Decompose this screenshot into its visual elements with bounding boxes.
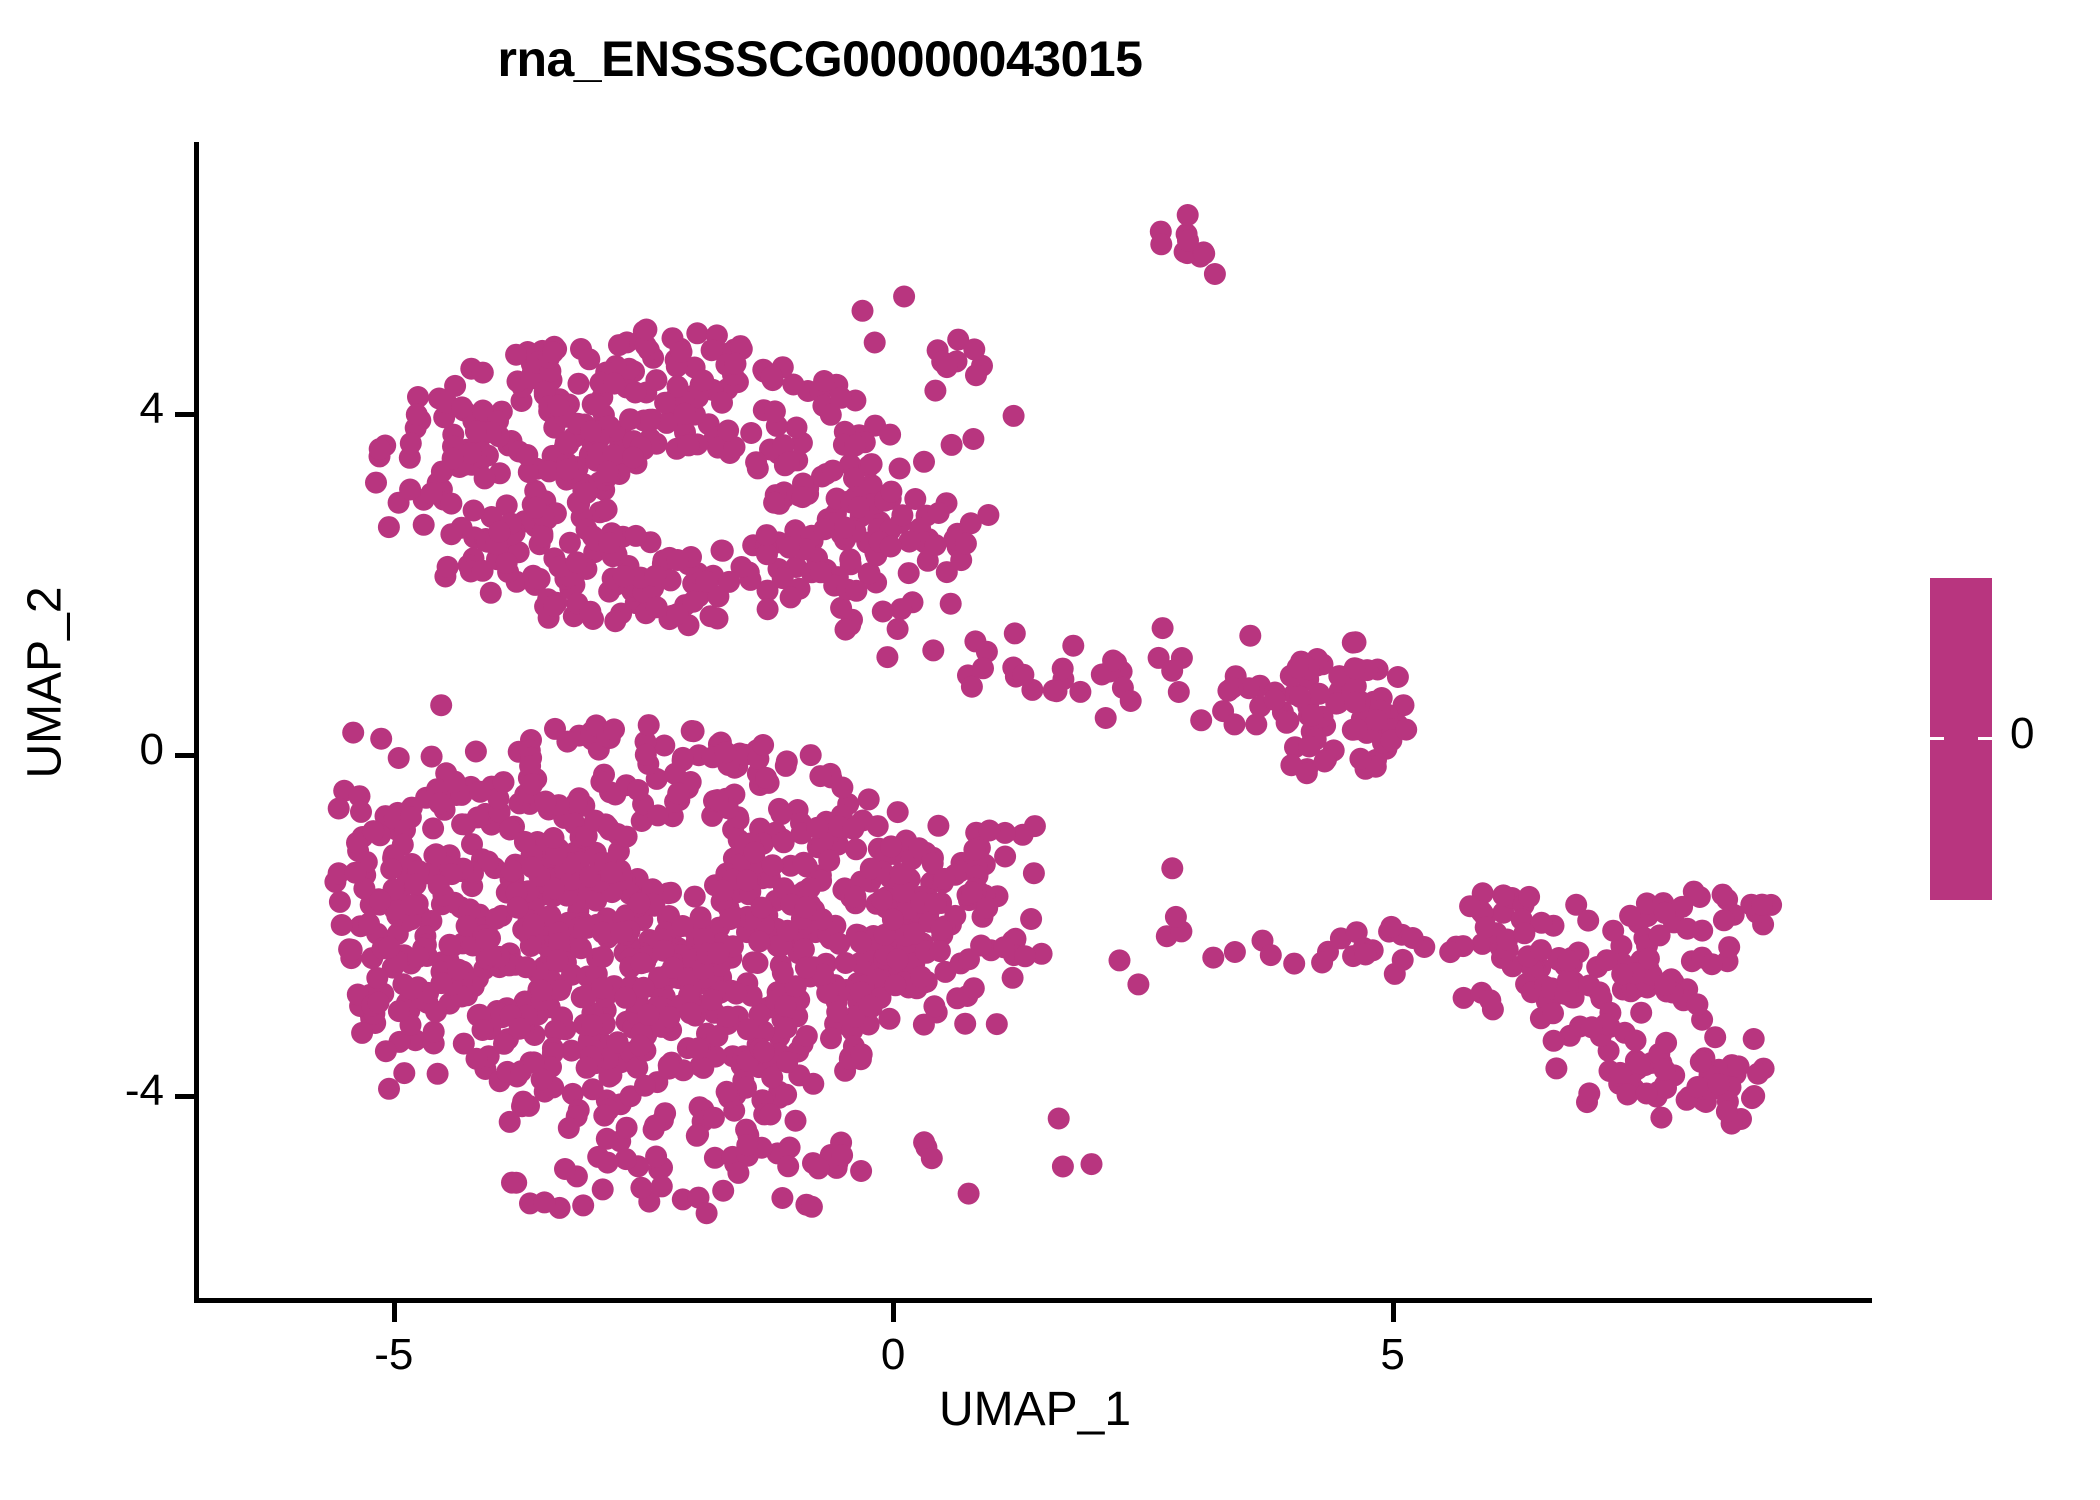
scatter-point [796, 1025, 818, 1047]
scatter-point [363, 1003, 385, 1025]
scatter-point [707, 608, 729, 630]
scatter-point [584, 810, 606, 832]
scatter-point [567, 900, 589, 922]
scatter-point [1627, 1058, 1649, 1080]
scatter-point [808, 1157, 830, 1179]
scatter-point [1202, 947, 1224, 969]
scatter-point [595, 362, 617, 384]
scatter-point [1002, 657, 1024, 679]
scatter-point [1721, 1113, 1743, 1135]
scatter-point [1699, 1065, 1721, 1087]
scatter-point [535, 968, 557, 990]
scatter-point [1369, 700, 1391, 722]
scatter-point [724, 906, 746, 928]
scatter-point [874, 959, 896, 981]
scatter-point [616, 1117, 638, 1139]
scatter-point [717, 797, 739, 819]
scatter-point [1349, 690, 1371, 712]
scatter-point [369, 445, 391, 467]
scatter-point [1249, 695, 1271, 717]
scatter-point [567, 933, 589, 955]
scatter-point [558, 1117, 580, 1139]
scatter-point [651, 1157, 673, 1179]
scatter-point [550, 976, 572, 998]
scatter-point [609, 432, 631, 454]
scatter-point [818, 850, 840, 872]
scatter-point [682, 591, 704, 613]
scatter-point [522, 361, 544, 383]
scatter-point [777, 920, 799, 942]
scatter-point [703, 790, 725, 812]
scatter-point [369, 438, 391, 460]
scatter-point [1624, 962, 1646, 984]
scatter-point [700, 605, 722, 627]
scatter-point [531, 1068, 553, 1090]
scatter-point [660, 569, 682, 591]
scatter-point [717, 420, 739, 442]
scatter-point [789, 578, 811, 600]
scatter-point [879, 519, 901, 541]
scatter-point [738, 881, 760, 903]
scatter-point [610, 1093, 632, 1115]
scatter-point [1297, 696, 1319, 718]
scatter-point [493, 1033, 515, 1055]
scatter-point [554, 1158, 576, 1180]
scatter-point [623, 430, 645, 452]
scatter-point [902, 910, 924, 932]
scatter-point [690, 932, 712, 954]
scatter-point [386, 905, 408, 927]
scatter-point [887, 618, 909, 640]
scatter-point [511, 376, 533, 398]
scatter-point [525, 483, 547, 505]
scatter-point [820, 1027, 842, 1049]
scatter-point [434, 799, 456, 821]
scatter-point [588, 739, 610, 761]
scatter-point [597, 816, 619, 838]
scatter-point [703, 1002, 725, 1024]
scatter-point [715, 354, 737, 376]
scatter-point [520, 1051, 542, 1073]
scatter-point [820, 404, 842, 426]
scatter-point [598, 415, 620, 437]
scatter-point [425, 843, 447, 865]
scatter-point [879, 424, 901, 446]
scatter-point [1608, 1065, 1630, 1087]
scatter-point [834, 421, 856, 443]
scatter-point [780, 991, 802, 1013]
scatter-point [1650, 1052, 1672, 1074]
scatter-point [839, 454, 861, 476]
scatter-point [389, 886, 411, 908]
scatter-point [1531, 912, 1553, 934]
scatter-point [722, 1146, 744, 1168]
scatter-point [1673, 989, 1695, 1011]
scatter-point [554, 403, 576, 425]
scatter-point [462, 935, 484, 957]
scatter-point [1346, 718, 1368, 740]
scatter-point [590, 372, 612, 394]
scatter-point [701, 989, 723, 1011]
scatter-point [1371, 687, 1393, 709]
scatter-point [882, 888, 904, 910]
scatter-point [684, 886, 706, 908]
scatter-point [480, 944, 502, 966]
scatter-point [531, 523, 553, 545]
scatter-point [826, 1153, 848, 1175]
scatter-point [737, 1050, 759, 1072]
scatter-point [944, 864, 966, 886]
scatter-point [489, 801, 511, 823]
scatter-point [451, 813, 473, 835]
scatter-point [1501, 887, 1523, 909]
scatter-point [1590, 988, 1612, 1010]
scatter-point [630, 436, 652, 458]
scatter-point [609, 1130, 631, 1152]
scatter-point [742, 919, 764, 941]
scatter-point [752, 734, 774, 756]
scatter-point [768, 558, 790, 580]
scatter-point [690, 1055, 712, 1077]
scatter-point [974, 854, 996, 876]
scatter-point [666, 949, 688, 971]
scatter-point [871, 861, 893, 883]
scatter-point [762, 854, 784, 876]
scatter-point [734, 744, 756, 766]
scatter-point [1004, 929, 1026, 951]
scatter-point [803, 956, 825, 978]
scatter-point [1315, 749, 1337, 771]
scatter-point [720, 903, 742, 925]
scatter-point [1720, 1076, 1742, 1098]
scatter-point [461, 833, 483, 855]
scatter-point [595, 852, 617, 874]
scatter-point [350, 801, 372, 823]
scatter-point [662, 605, 684, 627]
scatter-point [573, 473, 595, 495]
scatter-point [526, 458, 548, 480]
scatter-point [576, 1057, 598, 1079]
scatter-point [1539, 988, 1561, 1010]
scatter-point [1342, 632, 1364, 654]
scatter-point [1375, 738, 1397, 760]
scatter-point [791, 822, 813, 844]
scatter-point [554, 568, 576, 590]
scatter-point [582, 608, 604, 630]
scatter-point [799, 894, 821, 916]
scatter-point [536, 935, 558, 957]
scatter-point [610, 868, 632, 890]
scatter-point [642, 347, 664, 369]
scatter-point [766, 931, 788, 953]
scatter-point [897, 935, 919, 957]
scatter-point [392, 834, 414, 856]
scatter-point [1743, 1085, 1765, 1107]
scatter-point [820, 928, 842, 950]
scatter-point [382, 847, 404, 869]
scatter-point [750, 1038, 772, 1060]
scatter-point [577, 917, 599, 939]
scatter-point [1168, 681, 1190, 703]
scatter-point [520, 729, 542, 751]
scatter-point [429, 792, 451, 814]
scatter-point [610, 1051, 632, 1073]
scatter-point [468, 1004, 490, 1026]
scatter-point [559, 578, 581, 600]
scatter-point [651, 927, 673, 949]
scatter-point [840, 553, 862, 575]
scatter-point [717, 754, 739, 776]
scatter-point [500, 1005, 522, 1027]
scatter-point [395, 910, 417, 932]
scatter-point [529, 533, 551, 555]
scatter-point [1660, 968, 1682, 990]
scatter-point [835, 619, 857, 641]
scatter-point [824, 1013, 846, 1035]
scatter-point [399, 479, 421, 501]
scatter-point [565, 792, 587, 814]
scatter-point [614, 871, 636, 893]
scatter-point [969, 837, 991, 859]
scatter-point [964, 881, 986, 903]
scatter-point [524, 480, 546, 502]
scatter-point [543, 827, 565, 849]
scatter-point [605, 574, 627, 596]
scatter-point [1380, 916, 1402, 938]
scatter-point [837, 1014, 859, 1036]
scatter-point [667, 937, 689, 959]
scatter-point [457, 930, 479, 952]
scatter-point [341, 939, 363, 961]
scatter-point [1004, 622, 1026, 644]
scatter-point [501, 523, 523, 545]
scatter-point [543, 547, 565, 569]
scatter-point [867, 815, 889, 837]
scatter-point [875, 944, 897, 966]
scatter-point [917, 550, 939, 572]
scatter-point [707, 940, 729, 962]
scatter-point [630, 1177, 652, 1199]
scatter-point [861, 474, 883, 496]
scatter-point [1636, 977, 1658, 999]
y-axis-tick-label: -4 [0, 1066, 164, 1116]
scatter-point [369, 824, 391, 846]
scatter-point [827, 566, 849, 588]
scatter-point [833, 434, 855, 456]
scatter-point [894, 916, 916, 938]
scatter-point [1513, 894, 1535, 916]
scatter-point [686, 999, 708, 1021]
legend-colorbar[interactable]: 0 [1930, 578, 1992, 900]
scatter-point [753, 1021, 775, 1043]
scatter-point [901, 848, 923, 870]
scatter-point [971, 355, 993, 377]
scatter-point [1345, 631, 1367, 653]
scatter-point [1529, 957, 1551, 979]
scatter-point [646, 433, 668, 455]
scatter-point [1393, 694, 1415, 716]
scatter-point [844, 1006, 866, 1028]
scatter-point [462, 862, 484, 884]
scatter-point [768, 493, 790, 515]
scatter-point [903, 932, 925, 954]
scatter-point [1308, 683, 1330, 705]
scatter-point [515, 1005, 537, 1027]
scatter-point [487, 787, 509, 809]
scatter-point [652, 1109, 674, 1131]
scatter-point [916, 505, 938, 527]
scatter-point [513, 510, 535, 532]
scatter-point [544, 1020, 566, 1042]
scatter-point [965, 364, 987, 386]
scatter-point [651, 1175, 673, 1197]
scatter-point [644, 565, 666, 587]
scatter-point [765, 822, 787, 844]
scatter-point [519, 755, 541, 777]
scatter-point [843, 1035, 865, 1057]
scatter-point [1692, 1078, 1714, 1100]
scatter-point [1741, 1087, 1763, 1109]
scatter-point [631, 943, 653, 965]
scatter-point [1524, 958, 1546, 980]
scatter-point [525, 497, 547, 519]
scatter-point [568, 493, 590, 515]
scatter-point [658, 1054, 680, 1076]
scatter-point [592, 946, 614, 968]
scatter-point [1708, 1073, 1730, 1095]
scatter-point [1325, 693, 1347, 715]
scatter-point [834, 516, 856, 538]
scatter-point [890, 863, 912, 885]
scatter-point [792, 1033, 814, 1055]
scatter-point [370, 728, 392, 750]
scatter-point [1602, 920, 1624, 942]
scatter-point [400, 806, 422, 828]
scatter-point [648, 1159, 670, 1181]
scatter-point [816, 829, 838, 851]
scatter-point [972, 906, 994, 928]
scatter-point [1617, 1074, 1639, 1096]
scatter-point [766, 415, 788, 437]
scatter-point [577, 872, 599, 894]
scatter-point [712, 1180, 734, 1202]
scatter-point [1563, 971, 1585, 993]
scatter-point [406, 404, 428, 426]
scatter-point [365, 472, 387, 494]
scatter-point [398, 999, 420, 1021]
scatter-point [725, 881, 747, 903]
scatter-point [811, 466, 833, 488]
scatter-point [597, 461, 619, 483]
scatter-point [542, 1076, 564, 1098]
scatter-point [704, 427, 726, 449]
scatter-point [645, 1146, 667, 1168]
scatter-point [774, 975, 796, 997]
scatter-point [848, 924, 870, 946]
scatter-point [1329, 680, 1351, 702]
scatter-point [576, 518, 598, 540]
scatter-point [860, 858, 882, 880]
scatter-point [1264, 689, 1286, 711]
scatter-point [400, 1014, 422, 1036]
scatter-point [1098, 661, 1120, 683]
scatter-point [782, 374, 804, 396]
scatter-point [1152, 617, 1174, 639]
scatter-point [513, 1017, 535, 1039]
scatter-point [582, 1078, 604, 1100]
scatter-point [719, 1084, 741, 1106]
scatter-point [1610, 935, 1632, 957]
scatter-point [825, 374, 847, 396]
scatter-point [1127, 973, 1149, 995]
scatter-point [536, 508, 558, 530]
scatter-point [868, 838, 890, 860]
scatter-point [747, 952, 769, 974]
scatter-point [635, 319, 657, 341]
scatter-point [539, 396, 561, 418]
scatter-point [448, 456, 470, 478]
scatter-point [1024, 815, 1046, 837]
scatter-point [811, 831, 833, 853]
scatter-point [670, 994, 692, 1016]
scatter-point [423, 1021, 445, 1043]
scatter-point [946, 350, 968, 372]
scatter-point [1609, 1062, 1631, 1084]
scatter-point [544, 718, 566, 740]
scatter-point [772, 962, 794, 984]
scatter-point [781, 894, 803, 916]
scatter-point [563, 427, 585, 449]
scatter-point [426, 778, 448, 800]
scatter-point [566, 1105, 588, 1127]
scatter-point [950, 952, 972, 974]
scatter-point [507, 897, 529, 919]
scatter-point [510, 1008, 532, 1030]
scatter-point [477, 531, 499, 553]
scatter-point [772, 434, 794, 456]
scatter-point [588, 428, 610, 450]
scatter-point [1176, 223, 1198, 245]
scatter-point [947, 329, 969, 351]
scatter-point [689, 943, 711, 965]
scatter-point [677, 1037, 699, 1059]
scatter-point [906, 977, 928, 999]
scatter-point [480, 421, 502, 443]
scatter-point [616, 826, 638, 848]
scatter-point [1491, 947, 1513, 969]
scatter-point [1225, 665, 1247, 687]
scatter-point [824, 974, 846, 996]
scatter-point [380, 858, 402, 880]
scatter-point [616, 331, 638, 353]
scatter-point [586, 947, 608, 969]
scatter-point [927, 339, 949, 361]
scatter-point [635, 382, 657, 404]
scatter-point [679, 1002, 701, 1024]
scatter-point [1471, 933, 1493, 955]
scatter-point [578, 1030, 600, 1052]
scatter-point [574, 827, 596, 849]
scatter-point [556, 731, 578, 753]
scatter-point [558, 394, 580, 416]
scatter-point [696, 1023, 718, 1045]
scatter-point [570, 937, 592, 959]
scatter-point [690, 374, 712, 396]
scatter-point [542, 445, 564, 467]
scatter-point [358, 913, 380, 935]
scatter-point [386, 950, 408, 972]
scatter-point [372, 983, 394, 1005]
